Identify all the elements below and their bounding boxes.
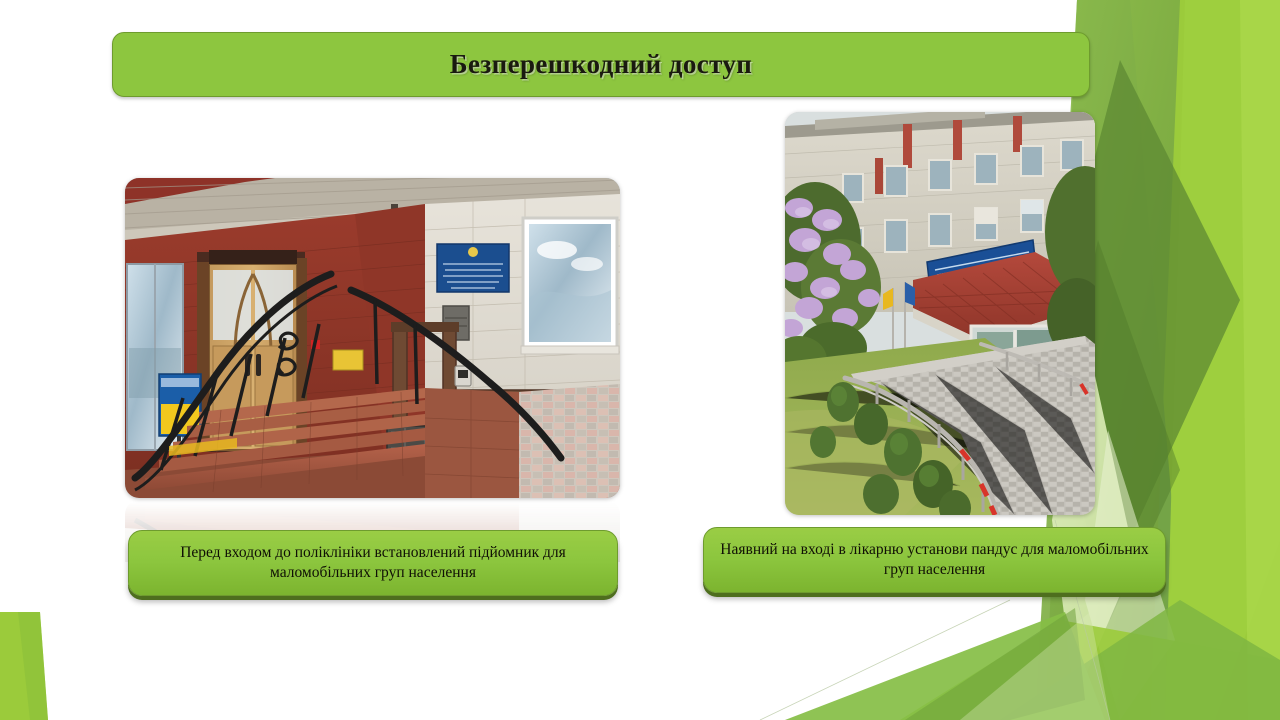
photo-frame-left <box>125 178 620 498</box>
slide-canvas: Безперешкодний доступ <box>0 0 1280 720</box>
photo-frame-right <box>785 112 1095 515</box>
caption-left-text: Перед входом до поліклініки встановлений… <box>143 543 603 584</box>
caption-box-left: Перед входом до поліклініки встановлений… <box>128 530 618 596</box>
photo-clinic-entrance-with-lift <box>125 178 620 498</box>
caption-box-right: Наявний на вході в лікарню установи панд… <box>703 527 1166 593</box>
page-title: Безперешкодний доступ <box>450 49 753 80</box>
slide-title-bar: Безперешкодний доступ <box>112 32 1090 97</box>
photo-hospital-entrance-with-ramp <box>785 112 1095 515</box>
caption-right-text: Наявний на вході в лікарню установи панд… <box>718 540 1151 581</box>
